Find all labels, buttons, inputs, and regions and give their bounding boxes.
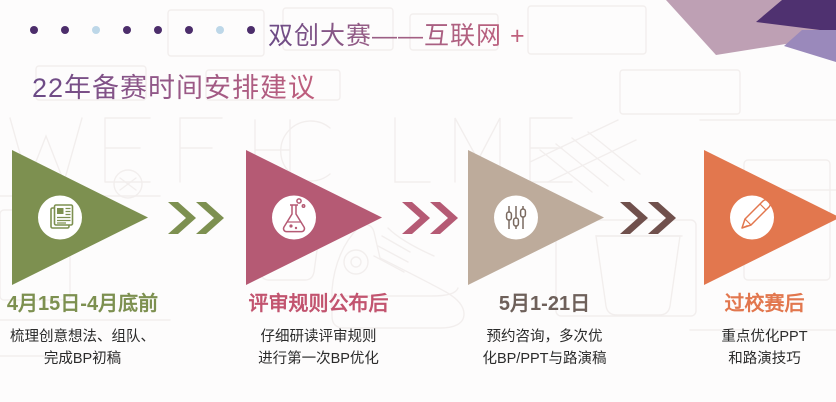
caption-body-1: 梳理创意想法、组队、 完成BP初稿 [0, 327, 187, 371]
chevron-separator-1 [168, 202, 230, 234]
caption-heading-1: 4月15日-4月底前 [0, 292, 187, 316]
dot-3 [92, 26, 100, 34]
dot-4 [123, 26, 131, 34]
caption-heading-2: 评审规则公布后 [214, 292, 423, 316]
sub-title: 22年备赛时间安排建议 [32, 66, 316, 105]
captions-row: 4月15日-4月底前 梳理创意想法、组队、 完成BP初稿 评审规则公布后 仔细研… [0, 292, 836, 402]
caption-body-2: 仔细研读评审规则 进行第一次BP优化 [214, 327, 423, 371]
sliders-icon [507, 206, 526, 229]
caption-body-4-line-2: 和路演技巧 [660, 349, 836, 371]
caption-body-4: 重点优化PPT 和路演技巧 [660, 327, 836, 371]
caption-heading-3: 5月1-21日 [440, 292, 649, 316]
caption-body-3: 预约咨询，多次优 化BP/PPT与路演稿 [440, 327, 649, 371]
chevron-separator-3 [620, 202, 682, 234]
caption-body-3-line-2: 化BP/PPT与路演稿 [440, 349, 649, 371]
caption-body-4-line-1: 重点优化PPT [660, 327, 836, 349]
dot-6 [185, 26, 193, 34]
caption-body-1-line-1: 梳理创意想法、组队、 [0, 327, 187, 349]
caption-body-2-line-2: 进行第一次BP优化 [214, 349, 423, 371]
caption-heading-4: 过校赛后 [660, 292, 836, 316]
chevron-separator-2 [402, 202, 464, 234]
dot-5 [154, 26, 162, 34]
newspaper-icon [51, 205, 73, 228]
corner-decoration [606, 0, 836, 80]
slide-canvas: 双创大赛——互联网 + 22年备赛时间安排建议 [0, 0, 836, 402]
caption-col-3: 5月1-21日 预约咨询，多次优 化BP/PPT与路演稿 [440, 292, 649, 371]
step-arrow-2[interactable] [246, 150, 382, 285]
dot-2 [61, 26, 69, 34]
main-title: 双创大赛——互联网 + [268, 16, 526, 52]
step-arrow-4[interactable] [704, 150, 836, 285]
caption-col-1: 4月15日-4月底前 梳理创意想法、组队、 完成BP初稿 [0, 292, 187, 371]
step-arrow-3[interactable] [468, 150, 604, 285]
caption-body-1-line-2: 完成BP初稿 [0, 349, 187, 371]
step-arrow-1[interactable] [12, 150, 148, 285]
caption-body-3-line-1: 预约咨询，多次优 [440, 327, 649, 349]
decorative-dots-row [30, 26, 255, 34]
dot-8 [247, 26, 255, 34]
caption-body-2-line-1: 仔细研读评审规则 [214, 327, 423, 349]
caption-col-4: 过校赛后 重点优化PPT 和路演技巧 [660, 292, 836, 371]
caption-col-2: 评审规则公布后 仔细研读评审规则 进行第一次BP优化 [214, 292, 423, 371]
dot-1 [30, 26, 38, 34]
process-flow [0, 150, 836, 285]
dot-7 [216, 26, 224, 34]
